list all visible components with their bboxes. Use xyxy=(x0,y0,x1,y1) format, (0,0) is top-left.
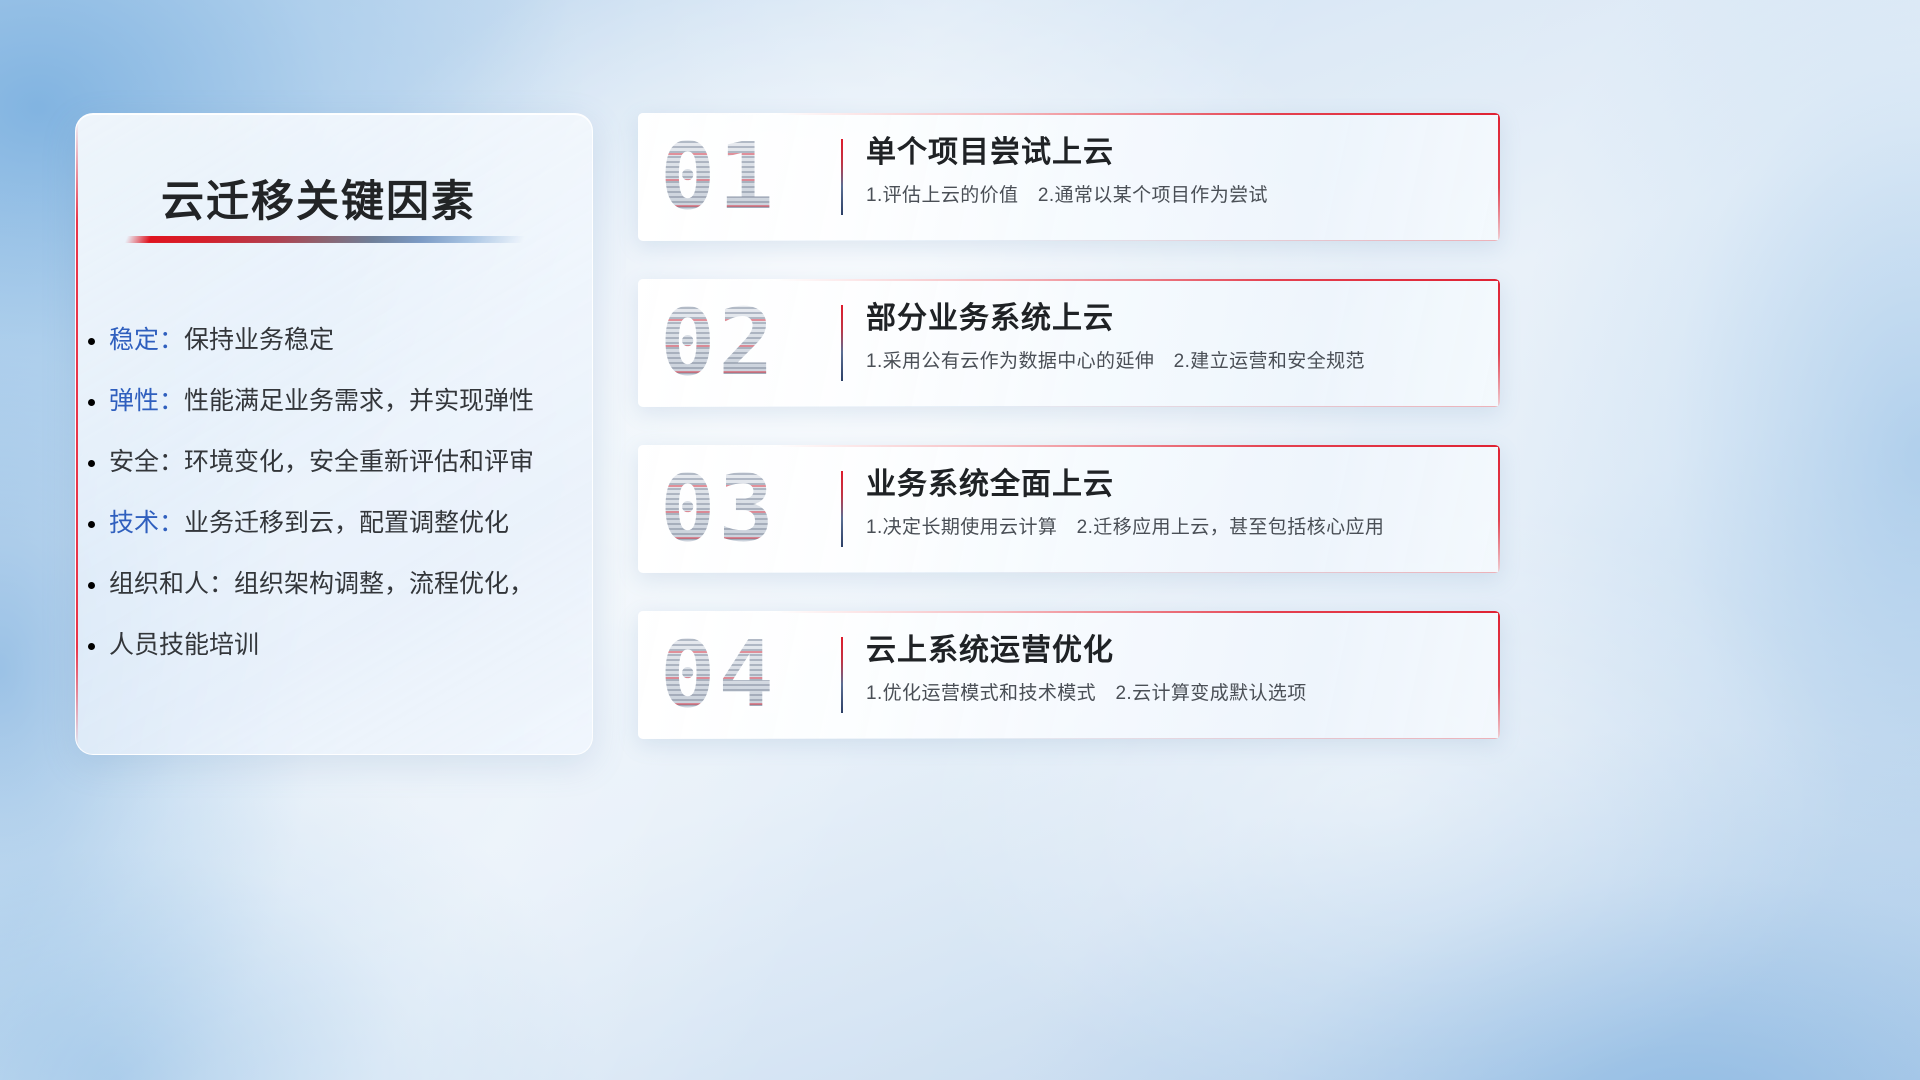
step-divider-bar xyxy=(841,471,843,547)
factor-list: 稳定：保持业务稳定 弹性：性能满足业务需求，并实现弹性 安全：环境变化，安全重新… xyxy=(109,310,572,676)
step-number-watermark: 01 xyxy=(660,121,830,233)
factor-label: 技术： xyxy=(109,509,184,537)
page-title: 云迁移关键因素 xyxy=(161,167,476,229)
migration-steps-list: 01 01 单个项目尝试上云 1.评估上云的价值 2.通常以某个项目作为尝试 0… xyxy=(638,113,1500,777)
card-top-accent-line xyxy=(638,113,1500,115)
card-top-accent-line xyxy=(638,611,1500,613)
card-top-accent-line xyxy=(638,279,1500,281)
list-item: 人员技能培训 xyxy=(109,615,572,676)
factor-text: 性能满足业务需求，并实现弹性 xyxy=(184,387,534,415)
factor-text: 人员技能培训 xyxy=(109,631,259,659)
list-item: 技术：业务迁移到云，配置调整优化 xyxy=(109,493,572,554)
step-divider-bar xyxy=(841,305,843,381)
step-description: 1.评估上云的价值 2.通常以某个项目作为尝试 xyxy=(866,183,1476,209)
card-bottom-accent-line xyxy=(638,240,1500,241)
list-item: 安全：环境变化，安全重新评估和评审 xyxy=(109,432,572,493)
step-card-04[interactable]: 04 04 云上系统运营优化 1.优化运营模式和技术模式 2.云计算变成默认选项 xyxy=(638,611,1500,739)
factor-text: 业务迁移到云，配置调整优化 xyxy=(184,509,509,537)
card-right-accent-line xyxy=(1498,611,1500,739)
step-card-01[interactable]: 01 01 单个项目尝试上云 1.评估上云的价值 2.通常以某个项目作为尝试 xyxy=(638,113,1500,241)
step-body: 业务系统全面上云 1.决定长期使用云计算 2.迁移应用上云，甚至包括核心应用 xyxy=(866,463,1476,541)
card-right-accent-line xyxy=(1498,279,1500,407)
key-factors-panel: 云迁移关键因素 稳定：保持业务稳定 弹性：性能满足业务需求，并实现弹性 安全：环… xyxy=(75,113,593,755)
factor-label: 弹性： xyxy=(109,387,184,415)
factor-label: 组织和人： xyxy=(109,570,234,598)
factor-text: 保持业务稳定 xyxy=(184,326,334,354)
step-card-02[interactable]: 02 02 部分业务系统上云 1.采用公有云作为数据中心的延伸 2.建立运营和安… xyxy=(638,279,1500,407)
step-body: 云上系统运营优化 1.优化运营模式和技术模式 2.云计算变成默认选项 xyxy=(866,629,1476,707)
card-bottom-accent-line xyxy=(638,572,1500,573)
step-description: 1.决定长期使用云计算 2.迁移应用上云，甚至包括核心应用 xyxy=(866,515,1476,541)
factor-label: 稳定： xyxy=(109,326,184,354)
slide-canvas: 云迁移关键因素 稳定：保持业务稳定 弹性：性能满足业务需求，并实现弹性 安全：环… xyxy=(0,0,1920,1080)
step-description: 1.优化运营模式和技术模式 2.云计算变成默认选项 xyxy=(866,681,1476,707)
list-item: 稳定：保持业务稳定 xyxy=(109,310,572,371)
step-description: 1.采用公有云作为数据中心的延伸 2.建立运营和安全规范 xyxy=(866,349,1476,375)
title-underline-rule xyxy=(125,236,526,243)
step-body: 部分业务系统上云 1.采用公有云作为数据中心的延伸 2.建立运营和安全规范 xyxy=(866,297,1476,375)
card-top-accent-line xyxy=(638,445,1500,447)
card-right-accent-line xyxy=(1498,113,1500,241)
factor-text: 组织架构调整，流程优化， xyxy=(234,570,534,598)
step-title: 单个项目尝试上云 xyxy=(866,131,1476,175)
factor-text: 环境变化，安全重新评估和评审 xyxy=(184,448,534,476)
factor-label: 安全： xyxy=(109,448,184,476)
step-card-03[interactable]: 03 03 业务系统全面上云 1.决定长期使用云计算 2.迁移应用上云，甚至包括… xyxy=(638,445,1500,573)
step-divider-bar xyxy=(841,637,843,713)
step-number-watermark: 03 xyxy=(660,453,830,565)
list-item: 弹性：性能满足业务需求，并实现弹性 xyxy=(109,371,572,432)
step-title: 云上系统运营优化 xyxy=(866,629,1476,673)
step-number-watermark: 02 xyxy=(660,287,830,399)
step-title: 部分业务系统上云 xyxy=(866,297,1476,341)
card-bottom-accent-line xyxy=(638,406,1500,407)
list-item: 组织和人：组织架构调整，流程优化， xyxy=(109,554,572,615)
card-bottom-accent-line xyxy=(638,738,1500,739)
step-title: 业务系统全面上云 xyxy=(866,463,1476,507)
step-body: 单个项目尝试上云 1.评估上云的价值 2.通常以某个项目作为尝试 xyxy=(866,131,1476,209)
panel-left-accent-bar xyxy=(76,120,78,748)
card-right-accent-line xyxy=(1498,445,1500,573)
step-divider-bar xyxy=(841,139,843,215)
step-number-watermark: 04 xyxy=(660,619,830,731)
